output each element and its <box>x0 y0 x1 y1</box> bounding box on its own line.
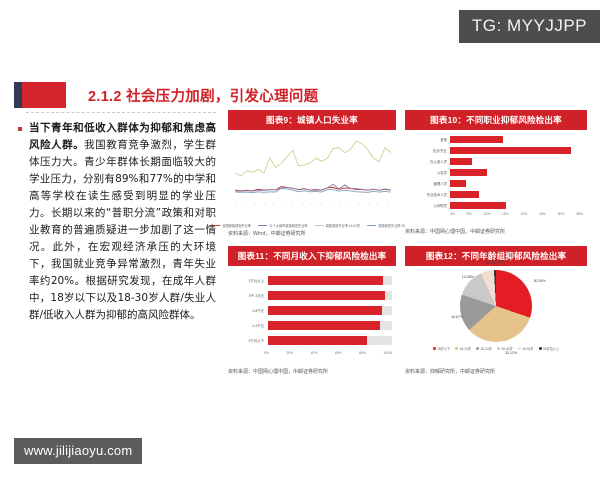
chart11-bars: 1万元以上8千-1万元4-8千元2-4千元2千元以下 <box>228 274 396 347</box>
chart11-category-label: 2-4千元 <box>228 323 268 328</box>
chart11-bar <box>268 306 382 315</box>
chart11-category-label: 4-8千元 <box>228 308 268 313</box>
chart10-bar <box>450 180 466 187</box>
chart10-bar <box>450 202 506 209</box>
chart11-x-axis: 0%20%40%60%80%100% <box>264 349 392 355</box>
section-header: 2.1.2 社会压力加剧，引发心理问题 <box>14 82 318 108</box>
chart11-bar-row: 1万元以上 <box>228 274 396 287</box>
chart10-bar <box>450 191 479 198</box>
chart12-value-label: 33.12% <box>505 351 517 355</box>
divider <box>26 112 216 113</box>
chart11-bar-track <box>268 336 392 345</box>
chart10-bars: 其他无业/失业办公室人员公务员管理人员专业技术人员公司职员 <box>405 134 587 210</box>
chart10-bar-row: 办公室人员 <box>405 156 587 166</box>
chart10-bar-row: 公务员 <box>405 167 587 177</box>
chart10-title: 图表10：不同职业抑郁风险检出率 <box>405 110 587 130</box>
chart10-bar <box>450 147 571 154</box>
chart11-source: 资料来源：中国网心理中国，中邮证券研究所 <box>228 368 396 375</box>
chart12-value-label: 30.28% <box>533 279 545 283</box>
chart10-bar-row: 公司职员 <box>405 200 587 210</box>
chart12-value-label: 13.08% <box>462 275 474 279</box>
site-watermark: www.jilijiaoyu.com <box>14 438 142 464</box>
chart11-category-label: 2千元以下 <box>228 338 268 343</box>
chart10-category-label: 公司职员 <box>405 203 450 208</box>
chart10-bar-row: 其他 <box>405 134 587 144</box>
chart11-title: 图表11：不同月收入下抑郁风险检出率 <box>228 246 396 266</box>
telegram-watermark: TG: MYYJJPP <box>459 10 600 43</box>
chart10-bar <box>450 169 487 176</box>
chart9-body: 2018-022018-052018-082018-112019-022019-… <box>228 130 396 222</box>
chart11-bar-row: 2-4千元 <box>228 319 396 332</box>
legend-label: 城镇调查失业率:16-24岁 <box>326 223 361 228</box>
chart12-source: 资料来源：抑郁研究所，中邮证券研究所 <box>405 368 587 375</box>
chart11-x-tick: 100% <box>383 351 392 355</box>
chart10-source: 资料来源：中国网心理中国，中邮证券研究所 <box>405 228 587 235</box>
chart12-value-label: 0.93% <box>495 260 505 264</box>
chart10-body: 其他无业/失业办公室人员公务员管理人员专业技术人员公司职员 0%5%10%15%… <box>405 130 587 226</box>
chart12-value-label: 5.92% <box>485 261 495 265</box>
pie-chart <box>460 270 532 342</box>
chart11-bar-track <box>268 306 392 315</box>
chart-panel-9: 图表9：城镇人口失业率 2018-022018-052018-082018-11… <box>228 110 396 237</box>
chart10-bar-track <box>450 156 587 166</box>
chart11-x-tick: 20% <box>286 351 293 355</box>
chart11-bar-track <box>268 321 392 330</box>
chart9-legend-item: 城镇调查失业率:16-24岁 <box>315 223 361 228</box>
chart9-title: 图表9：城镇人口失业率 <box>228 110 396 130</box>
chart10-x-tick: 25% <box>539 212 546 216</box>
chart10-bar-track <box>450 145 587 155</box>
chart10-bar-row: 管理人员 <box>405 178 587 188</box>
chart11-bar-row: 2千元以下 <box>228 334 396 347</box>
body-paragraph: 当下青年和低收入群体为抑郁和焦虑高风险人群。我国教育竞争激烈，学生群体压力大。青… <box>29 120 216 324</box>
chart9-source: 资料来源：Wind，中邮证券研究所 <box>228 230 396 237</box>
chart11-bar <box>268 321 380 330</box>
chart11-bar-row: 8千-1万元 <box>228 289 396 302</box>
chart12-plot: 30.28%33.12%16.67%13.08%5.92%0.93% <box>405 266 587 348</box>
legend-label: 31个大城市城镇调查失业率 <box>269 223 308 228</box>
chart11-bar-row: 4-8千元 <box>228 304 396 317</box>
slide: TG: MYYJJPP 2.1.2 社会压力加剧，引发心理问题 当下青年和低收入… <box>0 0 600 480</box>
chart11-bar-track <box>268 291 392 300</box>
chart10-bar-row: 无业/失业 <box>405 145 587 155</box>
header-accent-red <box>22 82 66 108</box>
chart9-legend: 全国城镇调查失业率31个大城市城镇调查失业率城镇调查失业率:16-24岁城镇调查… <box>228 223 396 228</box>
chart-panel-11: 图表11：不同月收入下抑郁风险检出率 1万元以上8千-1万元4-8千元2-4千元… <box>228 246 396 375</box>
chart10-category-label: 办公室人员 <box>405 159 450 164</box>
bullet-item: 当下青年和低收入群体为抑郁和焦虑高风险人群。我国教育竞争激烈，学生群体压力大。青… <box>18 120 216 324</box>
chart10-category-label: 管理人员 <box>405 181 450 186</box>
header-accent-navy <box>14 82 22 108</box>
chart10-bar-track <box>450 200 587 210</box>
chart-panel-12: 图表12：不同年龄组抑郁风险检出率 30.28%33.12%16.67%13.0… <box>405 246 587 375</box>
chart10-category-label: 专业技术人员 <box>405 192 450 197</box>
body-rest: 我国教育竞争激烈，学生群体压力大。青少年群体长期面临较大的学业压力，分别有89%… <box>29 139 216 321</box>
chart11-x-tick: 80% <box>359 351 366 355</box>
chart10-x-tick: 10% <box>483 212 490 216</box>
legend-swatch <box>367 225 376 227</box>
chart11-bar <box>268 276 383 285</box>
chart10-x-tick: 15% <box>502 212 509 216</box>
chart10-x-axis: 0%5%10%15%20%25%30%35% <box>450 211 583 216</box>
page-title: 2.1.2 社会压力加剧，引发心理问题 <box>88 85 318 106</box>
chart12-body: 30.28%33.12%16.67%13.08%5.92%0.93% 18岁以下… <box>405 266 587 366</box>
chart12-value-label: 16.67% <box>451 315 463 319</box>
legend-swatch <box>258 225 267 227</box>
chart11-x-tick: 0% <box>264 351 269 355</box>
chart-panel-10: 图表10：不同职业抑郁风险检出率 其他无业/失业办公室人员公务员管理人员专业技术… <box>405 110 587 235</box>
chart10-bar-track <box>450 134 587 144</box>
chart10-x-tick: 35% <box>576 212 583 216</box>
chart10-category-label: 无业/失业 <box>405 148 450 153</box>
chart10-category-label: 公务员 <box>405 170 450 175</box>
legend-swatch <box>211 225 220 227</box>
chart10-x-tick: 0% <box>450 212 455 216</box>
chart9-x-axis: 2018-022018-052018-082018-112019-022019-… <box>234 204 394 220</box>
chart9-legend-item: 31个大城市城镇调查失业率 <box>258 223 308 228</box>
chart10-x-tick: 20% <box>520 212 527 216</box>
chart9-legend-item: 全国城镇调查失业率 <box>211 223 251 228</box>
body-text-column: 当下青年和低收入群体为抑郁和焦虑高风险人群。我国教育竞争激烈，学生群体压力大。青… <box>18 112 216 324</box>
chart10-bar-track <box>450 167 587 177</box>
chart11-x-tick: 60% <box>335 351 342 355</box>
chart10-bar-row: 专业技术人员 <box>405 189 587 199</box>
chart9-plot <box>232 134 394 208</box>
chart10-category-label: 其他 <box>405 137 450 142</box>
chart11-bar <box>268 291 385 300</box>
legend-label: 全国城镇调查失业率 <box>222 223 251 228</box>
chart10-bar-track <box>450 178 587 188</box>
chart10-bar-track <box>450 189 587 199</box>
chart10-bar <box>450 136 503 143</box>
legend-swatch <box>315 225 324 227</box>
chart10-bar <box>450 158 472 165</box>
chart11-x-tick: 40% <box>311 351 318 355</box>
chart10-x-tick: 30% <box>558 212 565 216</box>
chart11-bar-track <box>268 276 392 285</box>
chart11-category-label: 1万元以上 <box>228 278 268 283</box>
chart11-body: 1万元以上8千-1万元4-8千元2-4千元2千元以下 0%20%40%60%80… <box>228 266 396 366</box>
chart10-x-tick: 5% <box>467 212 472 216</box>
chart11-category-label: 8千-1万元 <box>228 293 268 298</box>
chart11-bar <box>268 336 367 345</box>
bullet-square-icon <box>18 127 22 131</box>
chart9-svg <box>232 134 394 208</box>
